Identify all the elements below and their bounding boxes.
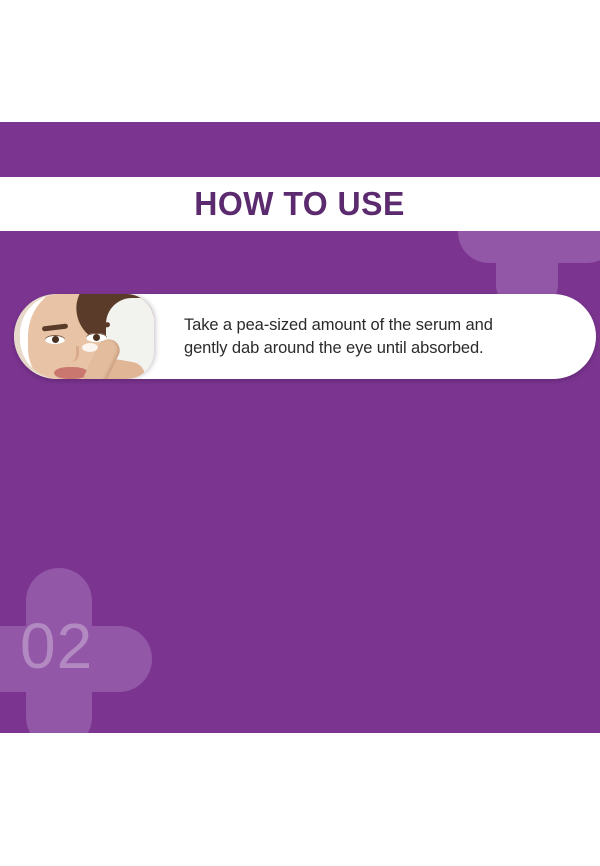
decorative-plus-bottom-left: 02 — [0, 568, 152, 733]
step-thumbnail — [14, 294, 154, 379]
face-left-eye — [45, 335, 65, 344]
decorative-plus-horizontal-bar — [458, 231, 600, 263]
decorative-plus-horizontal-bar — [0, 626, 152, 692]
instruction-text: Take a pea-sized amount of the serum and… — [154, 314, 596, 360]
page-title: HOW TO USE — [195, 185, 406, 223]
top-purple-band — [0, 122, 600, 177]
decorative-plus-vertical-bar — [26, 568, 92, 733]
step-thumbnail-image — [20, 294, 154, 379]
step-number: 02 — [20, 614, 140, 678]
instruction-text-line: Take a pea-sized amount of the serum and — [184, 314, 574, 337]
title-band: HOW TO USE — [0, 177, 600, 231]
face-photo-illustration — [20, 294, 154, 379]
instruction-text-line: gently dab around the eye until absorbed… — [184, 337, 574, 360]
instruction-card: Take a pea-sized amount of the serum and… — [14, 294, 596, 379]
